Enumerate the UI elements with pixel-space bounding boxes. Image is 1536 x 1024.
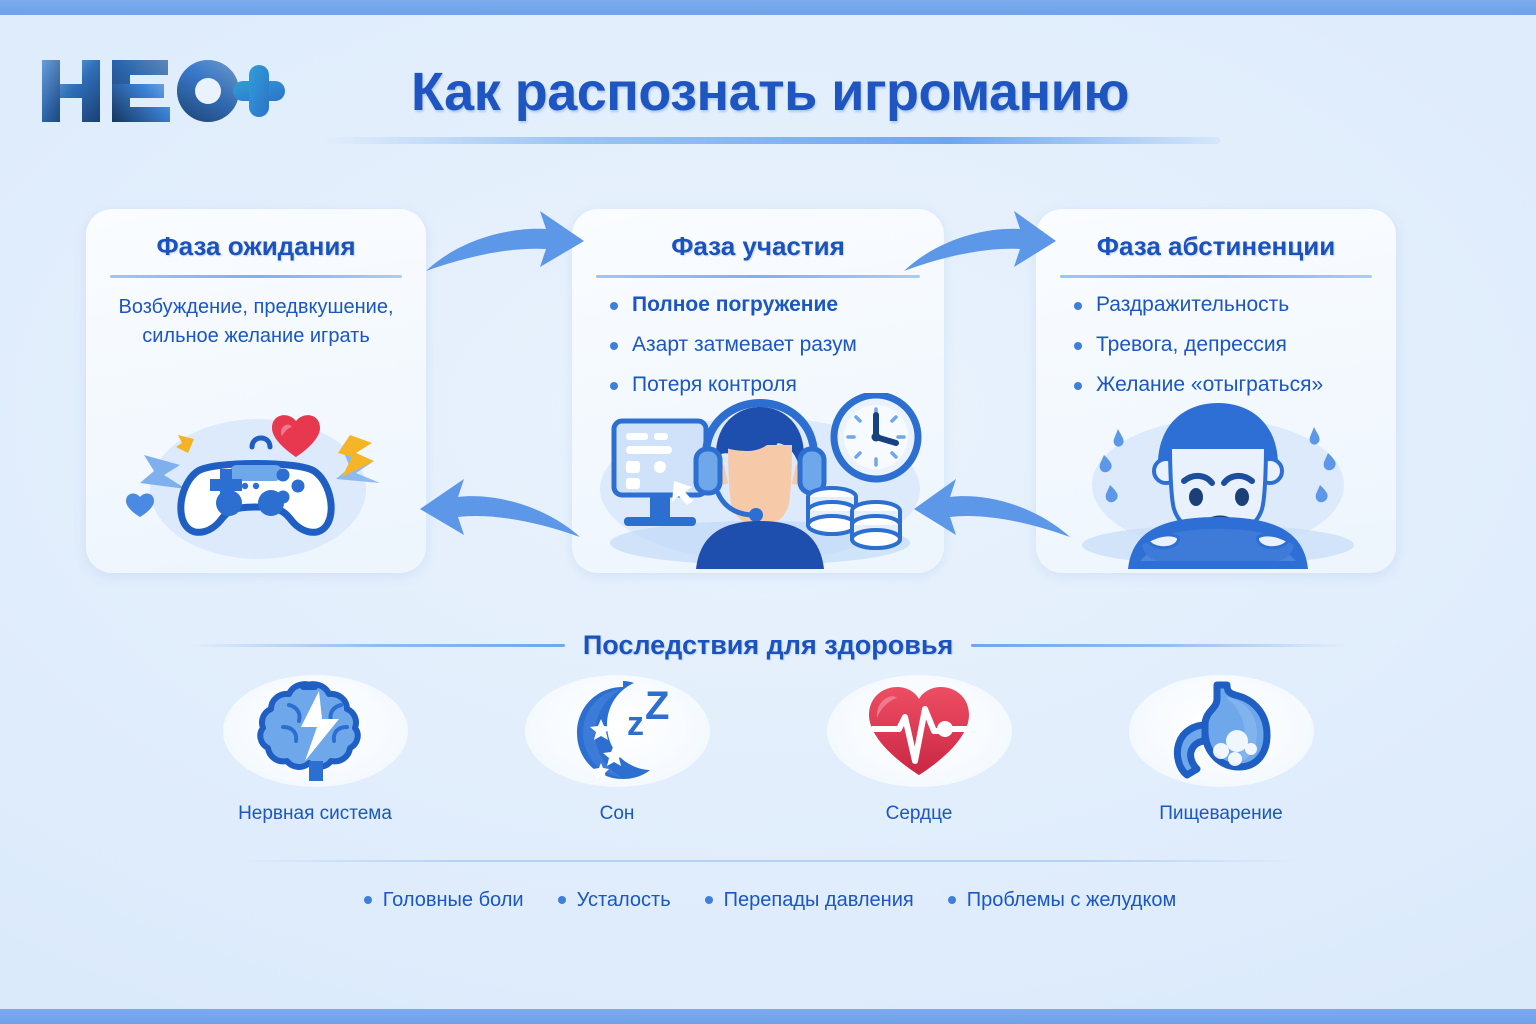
brand-logo <box>36 51 296 131</box>
symptom-item: Усталость <box>558 889 671 912</box>
icon-backdrop <box>223 675 408 787</box>
card-divider <box>110 275 402 278</box>
stomach-icon <box>1165 679 1277 783</box>
icon-backdrop <box>827 675 1012 787</box>
arrow-left-1-icon <box>412 479 588 556</box>
top-accent-bar <box>0 0 1536 15</box>
health-item-digestion[interactable]: Пищеварение <box>1106 675 1336 850</box>
phase-card-expectation[interactable]: Фаза ожидания Возбуждение, предвкушение,… <box>86 209 426 573</box>
health-item-sleep[interactable]: z Z Сон <box>502 675 732 850</box>
health-item-heart[interactable]: Сердце <box>804 675 1034 850</box>
infographic-canvas: Как распознать игроманию Фаза ожидания В… <box>0 15 1536 1009</box>
arrow-right-2-icon <box>896 209 1062 286</box>
divider-right <box>971 644 1346 647</box>
health-section-title: Последствия для здоровья <box>583 630 953 661</box>
health-item-label: Пищеварение <box>1159 803 1283 825</box>
list-item: Тревога, депрессия <box>1070 333 1378 356</box>
svg-text:z: z <box>627 705 644 743</box>
phase-title: Фаза участия <box>572 231 944 262</box>
phase-point-list: Раздражительность Тревога, депрессия Жел… <box>1054 293 1378 396</box>
divider-left <box>190 644 565 647</box>
svg-text:Z: Z <box>645 684 669 728</box>
phase-title: Фаза абстиненции <box>1036 231 1396 262</box>
icon-backdrop: z Z <box>525 675 710 787</box>
card-divider <box>596 275 920 278</box>
symptom-item: Перепады давления <box>705 889 914 912</box>
symptom-item: Головные боли <box>364 889 524 912</box>
health-item-label: Сердце <box>886 803 953 825</box>
moon-sleep-icon: z Z <box>557 679 677 783</box>
health-section-header: Последствия для здоровья <box>190 623 1346 667</box>
gamepad-illustration <box>86 393 426 573</box>
symptom-list: Головные боли Усталость Перепады давлени… <box>240 877 1300 923</box>
phase-card-withdrawal[interactable]: Фаза абстиненции Раздражительность Трево… <box>1036 209 1396 573</box>
symptom-item: Проблемы с желудком <box>948 889 1177 912</box>
phase-point-list: Полное погружение Азарт затмевает разум … <box>590 293 926 396</box>
brain-icon <box>257 679 373 783</box>
arrow-left-2-icon <box>906 479 1078 556</box>
footer-divider <box>240 860 1300 862</box>
health-item-nervous-system[interactable]: Нервная система <box>200 675 430 850</box>
phase-card-participation[interactable]: Фаза участия Полное погружение Азарт зат… <box>572 209 944 573</box>
health-item-label: Сон <box>600 803 635 825</box>
heart-pulse-icon <box>861 681 977 781</box>
card-divider <box>1060 275 1372 278</box>
phase-lead-text: Возбуждение, предвкушение, сильное желан… <box>104 293 408 351</box>
gamer-at-computer-illustration <box>572 393 944 573</box>
health-item-label: Нервная система <box>238 803 392 825</box>
title-underline <box>320 137 1220 144</box>
phase-title: Фаза ожидания <box>86 231 426 262</box>
arrow-right-1-icon <box>418 209 588 286</box>
icon-backdrop <box>1129 675 1314 787</box>
sad-person-illustration <box>1036 393 1396 573</box>
list-item: Полное погружение <box>606 293 926 316</box>
page-title: Как распознать игроманию <box>330 61 1210 123</box>
bottom-accent-bar <box>0 1009 1536 1024</box>
health-icon-row: Нервная система z Z Сон <box>200 675 1336 850</box>
list-item: Раздражительность <box>1070 293 1378 316</box>
list-item: Азарт затмевает разум <box>606 333 926 356</box>
